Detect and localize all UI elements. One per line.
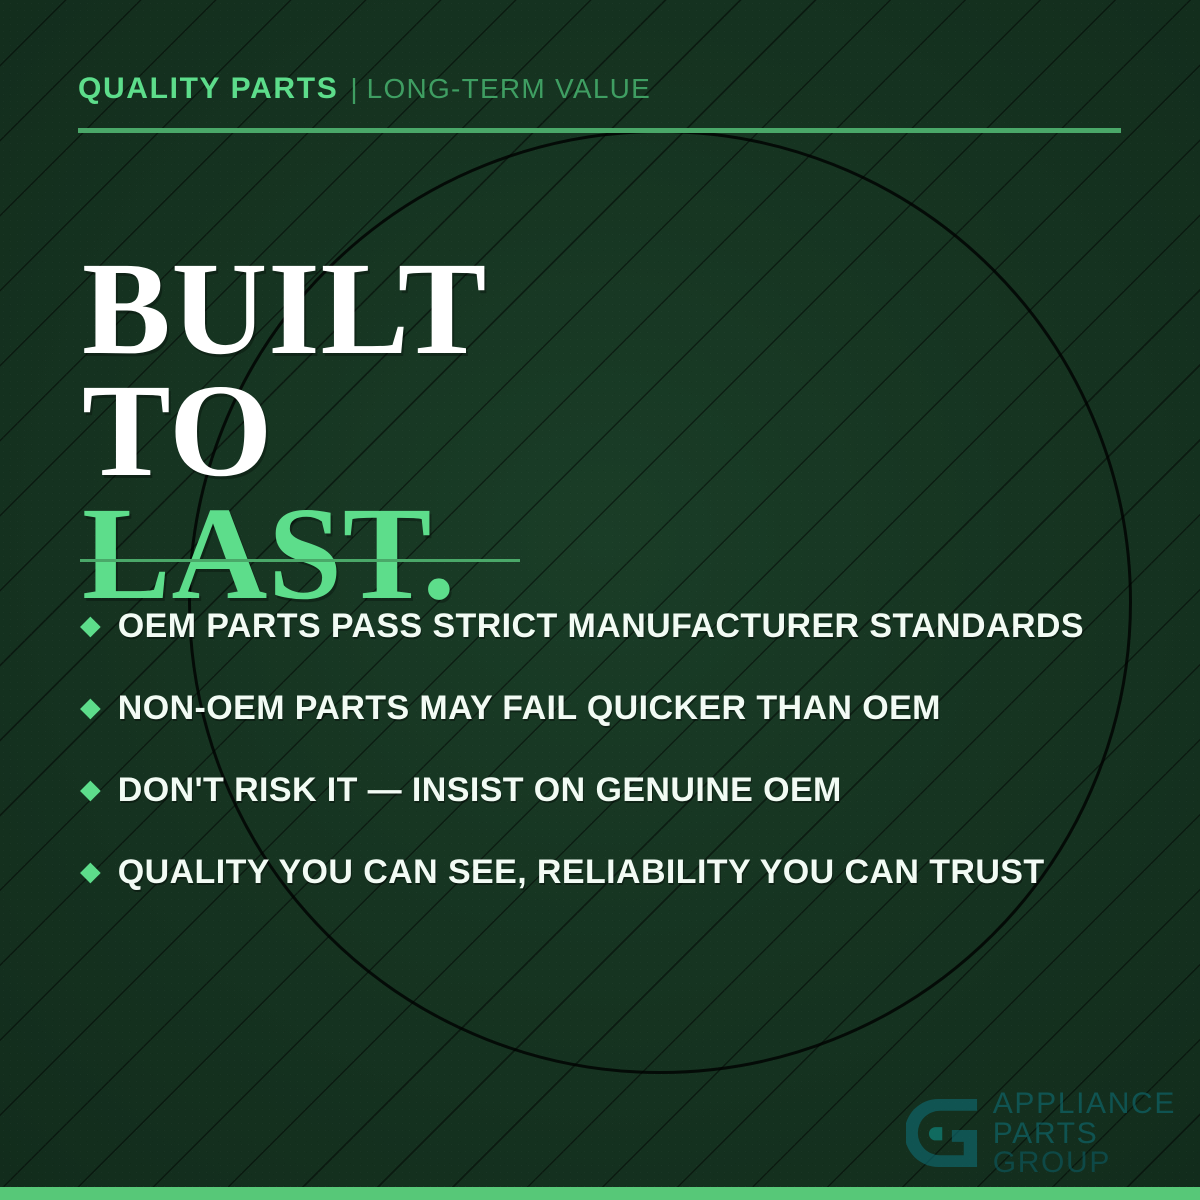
brand-logo: APPLIANCE PARTS GROUP <box>906 1089 1176 1178</box>
headline-divider-rule <box>80 559 520 562</box>
headline-line-1: BUILT <box>82 247 487 369</box>
kicker-separator: | <box>338 73 366 105</box>
diamond-bullet-icon: ◆ <box>80 694 101 721</box>
headline-line-2: TO <box>82 369 487 491</box>
g-monogram-icon <box>906 1096 980 1170</box>
kicker-strong-text: QUALITY PARTS <box>78 72 338 106</box>
brand-logo-line-3: GROUP <box>993 1148 1176 1178</box>
kicker-light-text: LONG-TERM VALUE <box>367 73 651 105</box>
list-item: ◆ OEM PARTS PASS STRICT MANUFACTURER STA… <box>80 585 1140 667</box>
brand-logo-line-1: APPLIANCE <box>993 1089 1176 1119</box>
list-item-label: NON-OEM PARTS MAY FAIL QUICKER THAN OEM <box>118 689 941 728</box>
list-item-label: QUALITY YOU CAN SEE, RELIABILITY YOU CAN… <box>118 853 1045 892</box>
diamond-bullet-icon: ◆ <box>80 858 101 885</box>
list-item: ◆ DON'T RISK IT — INSIST ON GENUINE OEM <box>80 749 1140 831</box>
bottom-accent-bar <box>0 1187 1200 1200</box>
brand-logo-line-2: PARTS <box>993 1119 1176 1149</box>
list-item: ◆ QUALITY YOU CAN SEE, RELIABILITY YOU C… <box>80 831 1140 913</box>
diamond-bullet-icon: ◆ <box>80 776 101 803</box>
benefits-list: ◆ OEM PARTS PASS STRICT MANUFACTURER STA… <box>80 585 1140 913</box>
kicker: QUALITY PARTS | LONG-TERM VALUE <box>78 72 651 106</box>
diamond-bullet-icon: ◆ <box>80 612 101 639</box>
list-item: ◆ NON-OEM PARTS MAY FAIL QUICKER THAN OE… <box>80 667 1140 749</box>
brand-logo-wordmark: APPLIANCE PARTS GROUP <box>993 1089 1176 1178</box>
list-item-label: DON'T RISK IT — INSIST ON GENUINE OEM <box>118 771 842 810</box>
header-divider-rule <box>78 128 1121 133</box>
list-item-label: OEM PARTS PASS STRICT MANUFACTURER STAND… <box>118 607 1084 646</box>
social-card-canvas: QUALITY PARTS | LONG-TERM VALUE BUILT TO… <box>0 0 1200 1200</box>
